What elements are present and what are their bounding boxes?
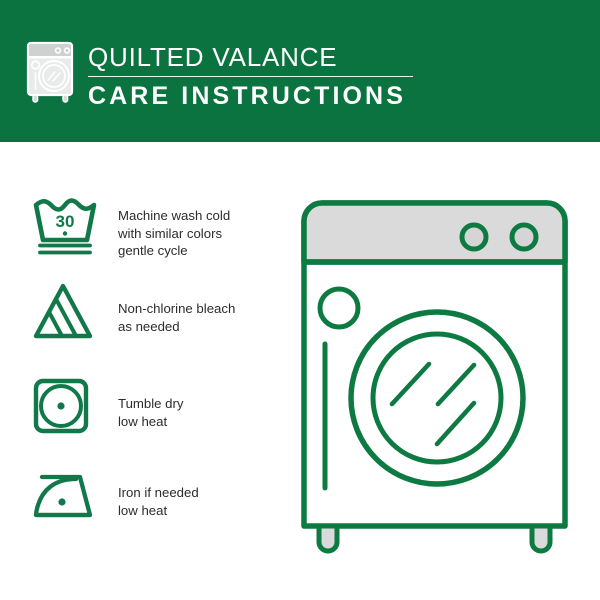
care-text-line: as needed (118, 318, 235, 336)
care-text-line: Iron if needed (118, 484, 199, 502)
care-text-iron: Iron if needed low heat (118, 484, 199, 519)
foot-right (532, 526, 550, 551)
washing-machine-illustration (292, 196, 577, 561)
care-text-line: low heat (118, 502, 199, 520)
header-banner: QUILTED VALANCE CARE INSTRUCTIONS (0, 0, 600, 142)
care-text-line: gentle cycle (118, 242, 230, 260)
title-divider (88, 76, 413, 77)
care-text-dry: Tumble dry low heat (118, 395, 183, 430)
wash-temperature-label: 30 (56, 212, 75, 231)
care-text-line: Tumble dry (118, 395, 183, 413)
tumble-dry-square-icon (32, 377, 90, 440)
iron-icon (32, 467, 98, 526)
washing-machine-icon (24, 41, 78, 103)
care-text-wash: Machine wash cold with similar colors ge… (118, 207, 230, 260)
care-instructions-list: 30 Machine wash cold with similar colors… (0, 142, 290, 600)
header-text-block: QUILTED VALANCE CARE INSTRUCTIONS (88, 42, 508, 111)
dial-circle (320, 289, 358, 327)
care-instructions-card: QUILTED VALANCE CARE INSTRUCTIONS 30 (0, 0, 600, 600)
page-title: QUILTED VALANCE (88, 42, 508, 72)
machine-wash-tub-icon: 30 (32, 197, 98, 264)
foot-left (319, 526, 337, 551)
page-subtitle: CARE INSTRUCTIONS (88, 81, 508, 111)
knob-right (512, 225, 536, 249)
knob-left (462, 225, 486, 249)
non-chlorine-bleach-triangle-icon (32, 282, 94, 345)
care-text-line: low heat (118, 413, 183, 431)
care-text-line: Non-chlorine bleach (118, 300, 235, 318)
care-text-line: Machine wash cold (118, 207, 230, 225)
care-text-bleach: Non-chlorine bleach as needed (118, 300, 235, 335)
care-text-line: with similar colors (118, 225, 230, 243)
